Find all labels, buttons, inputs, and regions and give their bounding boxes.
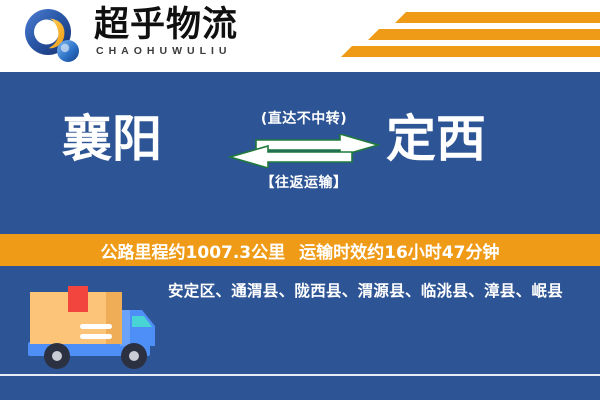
distance-label: 公路里程约1007.3公里 (101, 238, 286, 263)
logo-wordmark: 超乎物流 CHAOHUWULIU (94, 6, 238, 57)
delivery-truck-icon (24, 278, 160, 374)
route-center-group: (直达不中转) 【往返运输】 (228, 108, 380, 192)
coverage-section: 安定区、通渭县、陇西县、渭源县、临洮县、漳县、岷县 (0, 266, 600, 400)
direct-shipping-note: (直达不中转) (228, 108, 380, 128)
bottom-separator (0, 374, 600, 376)
orange-stripes-decoration (338, 10, 600, 66)
route-info-bar: 公路里程约1007.3公里 运输时效约16小时47分钟 (0, 234, 600, 266)
bidirectional-arrow-icon (228, 134, 380, 168)
destination-city-label: 定西 (386, 110, 486, 168)
coverage-areas-text: 安定区、通渭县、陇西县、渭源县、临洮县、漳县、岷县 (168, 278, 586, 304)
circle-q-logo-icon (22, 8, 84, 66)
company-name-en: CHAOHUWULIU (96, 45, 238, 57)
stripe-2 (368, 29, 600, 40)
duration-label: 运输时效约16小时47分钟 (299, 238, 499, 263)
round-trip-note: 【往返运输】 (228, 172, 380, 192)
origin-city-label: 襄阳 (62, 110, 162, 168)
route-section: 襄阳 (直达不中转) 【往返运输】 定西 (0, 74, 600, 232)
stripe-3 (341, 46, 600, 57)
logistics-route-banner: 超乎物流 CHAOHUWULIU 襄阳 (直达不中转) 【往返运输】 定 (0, 0, 600, 400)
banner-header: 超乎物流 CHAOHUWULIU (0, 0, 600, 72)
company-name-cn: 超乎物流 (94, 6, 238, 44)
stripe-1 (395, 12, 600, 23)
